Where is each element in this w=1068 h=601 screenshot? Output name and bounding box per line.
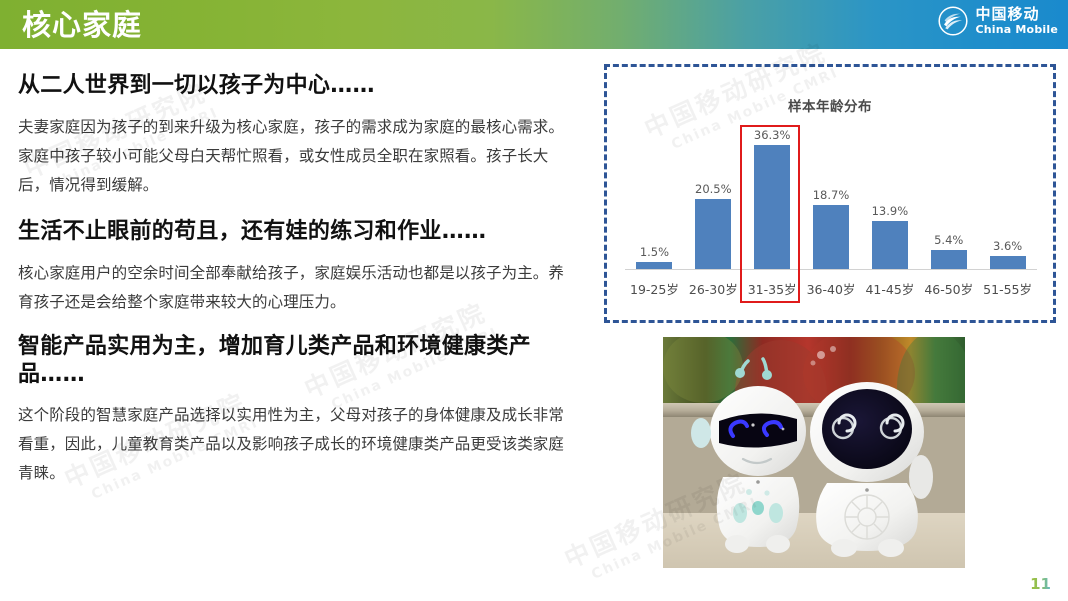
brand-name-cn: 中国移动 bbox=[975, 7, 1058, 22]
brand-name-en: China Mobile bbox=[975, 24, 1058, 35]
chart-bar-item: 36.3% bbox=[743, 119, 802, 269]
chart-bar-item: 1.5% bbox=[625, 119, 684, 269]
page-title: 核心家庭 bbox=[22, 5, 142, 45]
chart-bar-item: 13.9% bbox=[860, 119, 919, 269]
chart-bar-item: 18.7% bbox=[802, 119, 861, 269]
section-heading: 生活不止眼前的苟且，还有娃的练习和作业…… bbox=[18, 216, 578, 247]
slide: 核心家庭 中国移动 China Mobile 从二人世界到一切以孩子为中心…… … bbox=[0, 0, 1068, 601]
bar-rect bbox=[990, 256, 1026, 269]
bar-value-label: 36.3% bbox=[754, 128, 791, 142]
bar-rect bbox=[636, 262, 672, 269]
bar-value-label: 5.4% bbox=[934, 233, 963, 247]
bar-value-label: 1.5% bbox=[640, 245, 669, 259]
x-tick-label: 31-35岁 bbox=[743, 279, 802, 298]
chart-bar-item: 20.5% bbox=[684, 119, 743, 269]
section-heading: 从二人世界到一切以孩子为中心…… bbox=[18, 70, 578, 101]
chart-bar-item: 5.4% bbox=[919, 119, 978, 269]
bar-value-label: 13.9% bbox=[872, 204, 909, 218]
section-paragraph: 这个阶段的智慧家庭产品选择以实用性为主，父母对孩子的身体健康及成长非常看重，因此… bbox=[18, 401, 578, 488]
bar-rect bbox=[931, 250, 967, 269]
bar-value-label: 20.5% bbox=[695, 182, 732, 196]
x-tick-label: 46-50岁 bbox=[919, 279, 978, 298]
bar-value-label: 3.6% bbox=[993, 239, 1022, 253]
bar-rect bbox=[695, 199, 731, 269]
chart-panel: 样本年龄分布 1.5% 20.5% 36.3% 18.7% bbox=[604, 64, 1056, 323]
chart-plot-area: 1.5% 20.5% 36.3% 18.7% 13.9% bbox=[625, 119, 1037, 308]
bar-rect bbox=[872, 221, 908, 269]
page-number: 11 bbox=[1030, 575, 1051, 593]
x-tick-label: 36-40岁 bbox=[802, 279, 861, 298]
chart-x-axis bbox=[625, 269, 1037, 270]
china-mobile-logo-icon bbox=[938, 6, 968, 36]
content-block: 智能产品实用为主，增加育儿类产品和环境健康类产品…… 这个阶段的智慧家庭产品选择… bbox=[18, 333, 578, 488]
x-tick-label: 26-30岁 bbox=[684, 279, 743, 298]
x-tick-label: 41-45岁 bbox=[860, 279, 919, 298]
slide-header: 核心家庭 中国移动 China Mobile bbox=[0, 0, 1068, 49]
chart-bar-item: 3.6% bbox=[978, 119, 1037, 269]
chart-bars: 1.5% 20.5% 36.3% 18.7% 13.9% bbox=[625, 119, 1037, 269]
x-tick-label: 19-25岁 bbox=[625, 279, 684, 298]
chart-title: 样本年龄分布 bbox=[607, 95, 1053, 115]
content-column: 从二人世界到一切以孩子为中心…… 夫妻家庭因为孩子的到来升级为核心家庭，孩子的需… bbox=[18, 70, 578, 504]
content-block: 从二人世界到一切以孩子为中心…… 夫妻家庭因为孩子的到来升级为核心家庭，孩子的需… bbox=[18, 70, 578, 200]
chart-x-tick-labels: 19-25岁 26-30岁 31-35岁 36-40岁 41-45岁 46-50… bbox=[625, 274, 1037, 302]
robot-toys-photo bbox=[663, 337, 965, 568]
section-paragraph: 夫妻家庭因为孩子的到来升级为核心家庭，孩子的需求成为家庭的最核心需求。家庭中孩子… bbox=[18, 113, 578, 200]
bar-rect bbox=[813, 205, 849, 269]
brand-logo-text: 中国移动 China Mobile bbox=[975, 7, 1058, 35]
brand-logo: 中国移动 China Mobile bbox=[938, 6, 1058, 36]
section-heading: 智能产品实用为主，增加育儿类产品和环境健康类产品…… bbox=[18, 333, 578, 389]
bar-value-label: 18.7% bbox=[813, 188, 850, 202]
section-paragraph: 核心家庭用户的空余时间全部奉献给孩子，家庭娱乐活动也都是以孩子为主。养育孩子还是… bbox=[18, 259, 578, 317]
bar-rect bbox=[754, 145, 790, 269]
content-block: 生活不止眼前的苟且，还有娃的练习和作业…… 核心家庭用户的空余时间全部奉献给孩子… bbox=[18, 216, 578, 317]
x-tick-label: 51-55岁 bbox=[978, 279, 1037, 298]
